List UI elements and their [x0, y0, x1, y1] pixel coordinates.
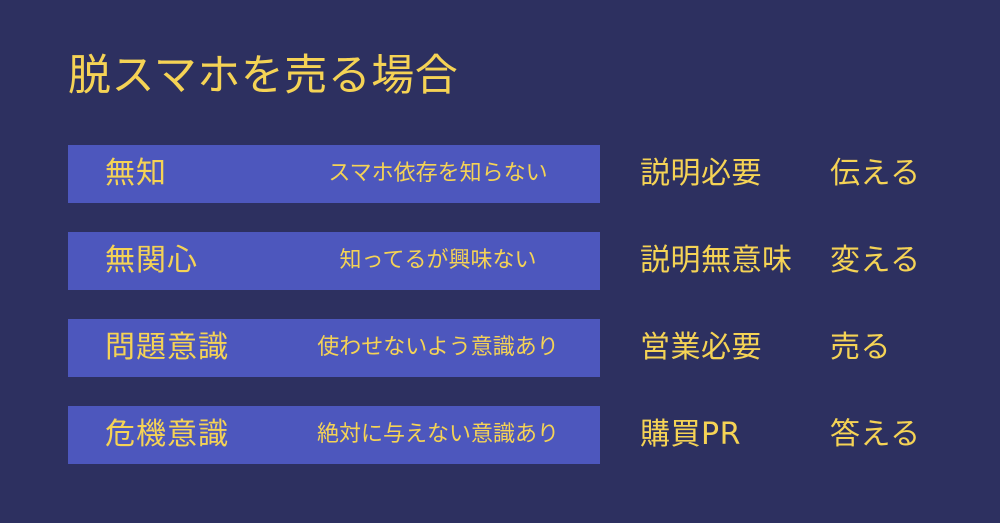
stage-need-label: 購買PR	[640, 420, 741, 450]
stage-description-label: スマホ依存を知らない	[283, 163, 593, 185]
slide-canvas: 脱スマホを売る場合 無知 スマホ依存を知らない 説明必要 伝える 無関心 知って…	[0, 0, 1000, 523]
stage-bar: 問題意識 使わせないよう意識あり	[68, 319, 600, 377]
stage-bar: 無関心 知ってるが興味ない	[68, 232, 600, 290]
stage-name-label: 問題意識	[105, 333, 229, 363]
stage-description-label: 絶対に与えない意識あり	[283, 424, 593, 446]
stage-bar: 危機意識 絶対に与えない意識あり	[68, 406, 600, 464]
stage-need-label: 営業必要	[640, 333, 762, 363]
table-row: 問題意識 使わせないよう意識あり 営業必要 売る	[0, 319, 1000, 377]
stage-bar: 無知 スマホ依存を知らない	[68, 145, 600, 203]
table-row: 危機意識 絶対に与えない意識あり 購買PR 答える	[0, 406, 1000, 464]
stage-name-label: 無関心	[105, 246, 198, 276]
stage-action-label: 答える	[830, 420, 921, 450]
table-row: 無知 スマホ依存を知らない 説明必要 伝える	[0, 145, 1000, 203]
stage-name-label: 危機意識	[105, 420, 229, 450]
stage-action-label: 売る	[830, 333, 891, 363]
page-title: 脱スマホを売る場合	[68, 52, 458, 100]
stage-need-label: 説明無意味	[640, 246, 793, 276]
stage-description-label: 使わせないよう意識あり	[283, 337, 593, 359]
stage-action-label: 変える	[830, 246, 921, 276]
stage-need-label: 説明必要	[640, 159, 762, 189]
awareness-stage-list: 無知 スマホ依存を知らない 説明必要 伝える 無関心 知ってるが興味ない 説明無…	[0, 145, 1000, 493]
stage-description-label: 知ってるが興味ない	[283, 250, 593, 272]
stage-name-label: 無知	[105, 159, 167, 189]
stage-action-label: 伝える	[830, 159, 921, 189]
table-row: 無関心 知ってるが興味ない 説明無意味 変える	[0, 232, 1000, 290]
